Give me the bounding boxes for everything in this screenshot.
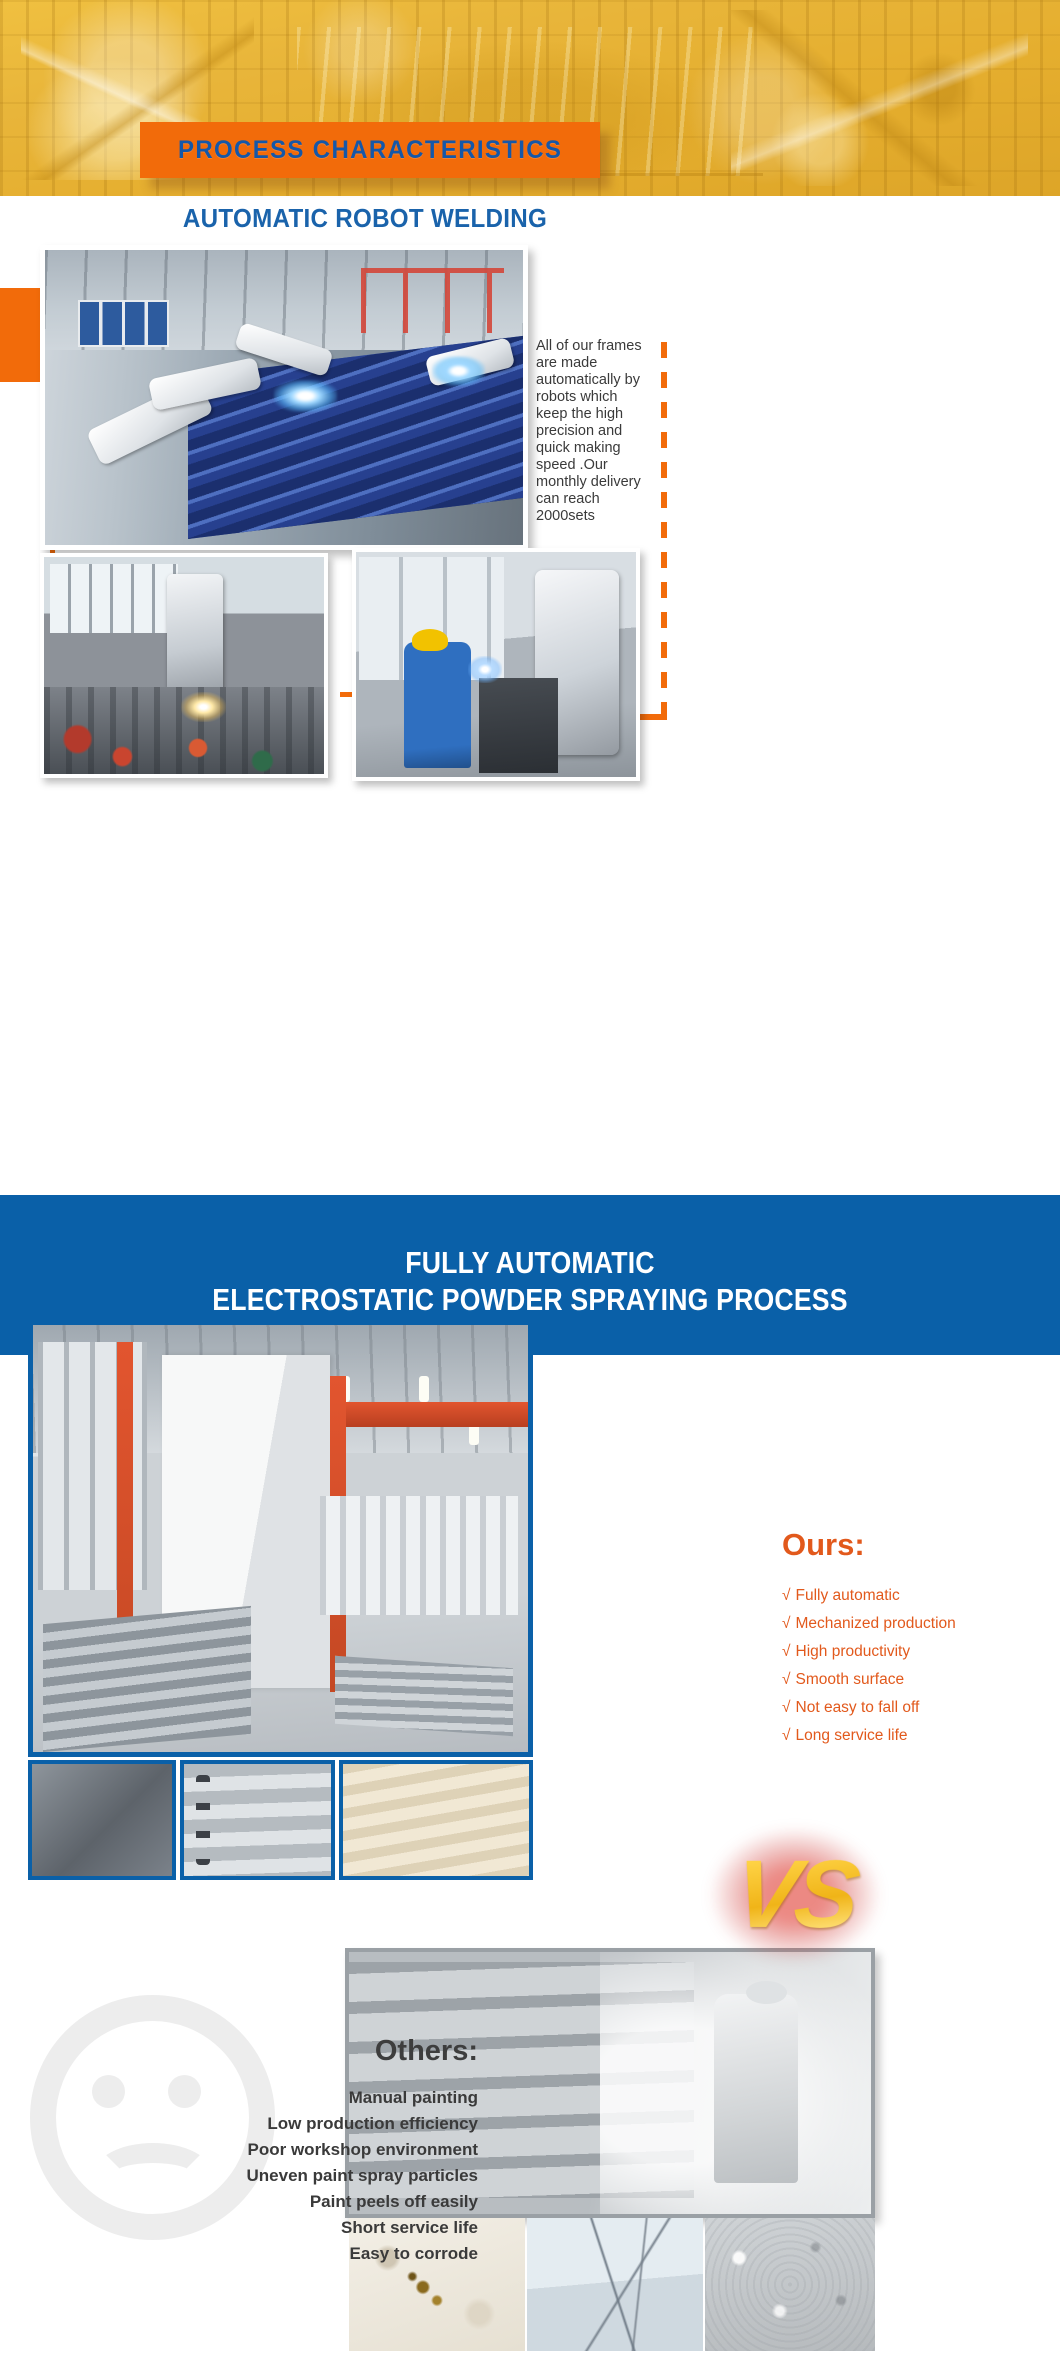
others-drawbacks-list: Manual painting Low production efficienc…: [0, 2085, 478, 2267]
spray-photo-lamp: [419, 1376, 429, 1402]
others-list-item: Paint peels off easily: [0, 2189, 478, 2215]
vs-label: VS: [692, 1820, 898, 1970]
ours-item-label: Not easy to fall off: [796, 1699, 920, 1716]
check-icon: √: [782, 1671, 791, 1688]
photo-powder-coating-booth-main: [28, 1320, 533, 1757]
spray-photo-panel-stack: [43, 1606, 251, 1752]
ours-list-item: √Mechanized production: [782, 1610, 1052, 1638]
photo-robot-welding-line-main: [40, 245, 528, 550]
check-icon: √: [782, 1643, 791, 1660]
weld-cell-spark: [181, 692, 226, 722]
photo-coated-beige-panels-stack: [339, 1760, 533, 1880]
check-icon: √: [782, 1615, 791, 1632]
weld-photo-arc-flash: [432, 356, 485, 386]
ours-advantages-list: √Fully automatic √Mechanized production …: [782, 1582, 1052, 1750]
ours-list-item: √Smooth surface: [782, 1666, 1052, 1694]
worker-photo-person: [404, 642, 471, 768]
photo-worker-with-welding-robot: [352, 548, 640, 781]
check-icon: √: [782, 1587, 791, 1604]
photo-paint-defect-cracks: [527, 2218, 703, 2351]
ours-list-item: √Long service life: [782, 1722, 1052, 1750]
ours-item-label: Long service life: [796, 1727, 908, 1744]
weld-photo-red-rack: [361, 268, 504, 333]
defect-crack-surface: [527, 2218, 703, 2351]
orange-dashed-divider: [661, 342, 667, 718]
others-list-item: Short service life: [0, 2215, 478, 2241]
spraying-banner-title: FULLY AUTOMATIC ELECTROSTATIC POWDER SPR…: [74, 1244, 986, 1318]
weld-photo-arc-flash: [274, 380, 336, 412]
ours-item-label: High productivity: [796, 1643, 911, 1660]
banner-title: PROCESS CHARACTERISTICS: [178, 136, 562, 165]
smooth-panel-surface: [32, 1764, 172, 1876]
spraying-title-line1: FULLY AUTOMATIC: [74, 1244, 986, 1281]
photo-smooth-coated-panel-closeup: [28, 1760, 176, 1880]
photo-coated-grey-panels-stack: [180, 1760, 335, 1880]
ours-item-label: Fully automatic: [796, 1587, 900, 1604]
weld-cell-window: [50, 564, 179, 633]
weld-photo-wallboard: [78, 300, 169, 347]
others-list-item: Easy to corrode: [0, 2241, 478, 2267]
ours-item-label: Smooth surface: [796, 1671, 905, 1688]
manual-spray-person: [714, 1994, 798, 2183]
defect-rough-surface: [705, 2218, 875, 2351]
beige-panels-surface: [343, 1764, 529, 1876]
worker-photo-control-box: [479, 678, 557, 773]
others-list-item: Low production efficiency: [0, 2111, 478, 2137]
infographic-page: PROCESS CHARACTERISTICS AUTOMATIC ROBOT …: [0, 0, 1060, 2377]
ours-list-item: √Fully automatic: [782, 1582, 1052, 1610]
ours-list-item: √Not easy to fall off: [782, 1694, 1052, 1722]
ours-item-label: Mechanized production: [796, 1615, 956, 1632]
others-list-item: Uneven paint spray particles: [0, 2163, 478, 2189]
welding-section-title: AUTOMATIC ROBOT WELDING: [26, 203, 705, 234]
others-list-item: Manual painting: [0, 2085, 478, 2111]
photo-robot-welding-cell: [40, 553, 328, 778]
worker-photo-helmet: [412, 629, 448, 652]
check-icon: √: [782, 1699, 791, 1716]
vs-badge: VS: [700, 1820, 890, 1970]
ours-list-item: √High productivity: [782, 1638, 1052, 1666]
process-characteristics-banner: PROCESS CHARACTERISTICS: [140, 122, 600, 178]
spray-photo-hanging-frames: [320, 1496, 518, 1616]
spraying-title-line2: ELECTROSTATIC POWDER SPRAYING PROCESS: [74, 1281, 986, 1318]
welding-description: All of our frames are made automatically…: [536, 338, 646, 525]
grey-panels-holes: [196, 1775, 211, 1865]
check-icon: √: [782, 1727, 791, 1744]
spray-photo-panel-stack: [335, 1656, 513, 1737]
ours-heading: Ours:: [782, 1527, 865, 1563]
worker-photo-arc-flash: [468, 656, 502, 683]
photo-paint-defect-rough-texture: [705, 2218, 875, 2351]
others-heading: Others:: [0, 2035, 478, 2068]
others-list-item: Poor workshop environment: [0, 2137, 478, 2163]
